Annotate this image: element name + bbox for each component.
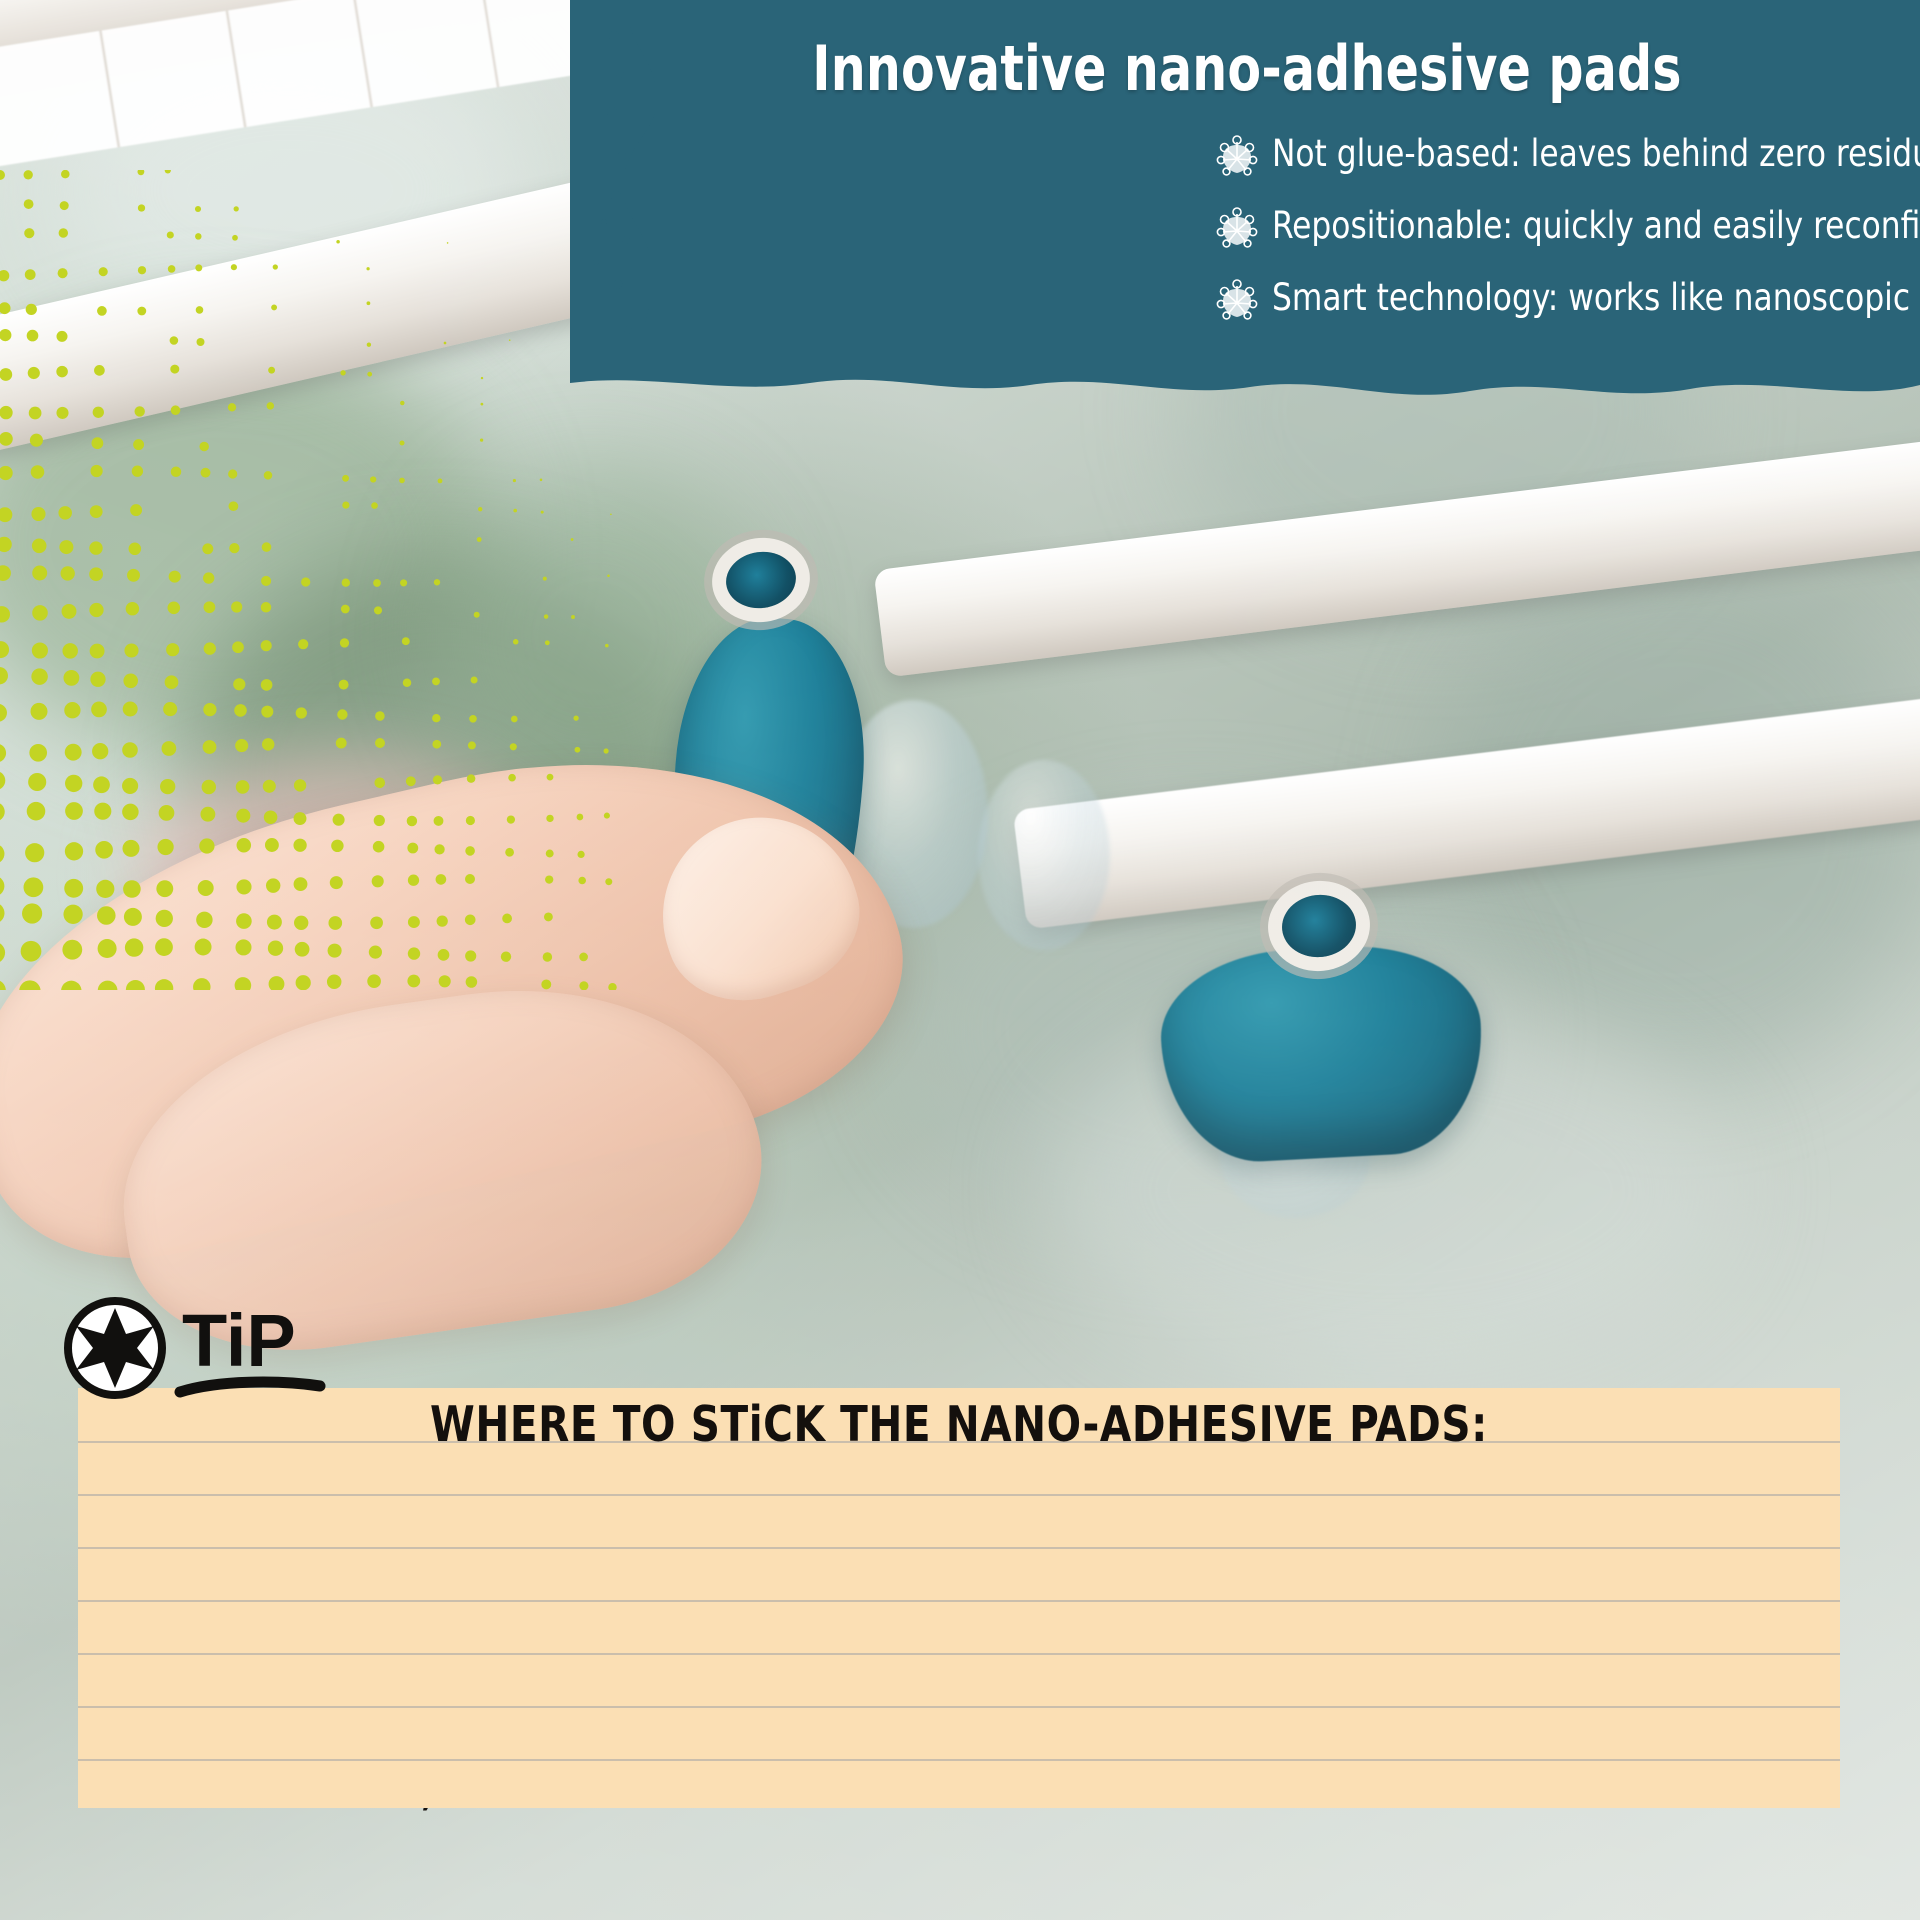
tip-underline [180, 1382, 320, 1392]
rule-line [78, 1759, 1840, 1761]
tip-title: WHERE TO STiCK THE NANO-ADHESIVE PADS: [148, 1396, 1769, 1453]
banner-bottom-edge [570, 369, 1920, 409]
rule-line [78, 1653, 1840, 1655]
nano-hand-icon [1216, 205, 1258, 249]
infographic-canvas: Innovative nano-adhesive pads Not glue-b… [0, 0, 1920, 1920]
tip-badge-label: TiP [182, 1299, 296, 1382]
tip-badge: TiP [58, 1296, 388, 1416]
feature-bullet-text: Repositionable: quickly and easily recon… [1272, 203, 1920, 249]
rule-line [78, 1706, 1840, 1708]
rule-line [78, 1600, 1840, 1602]
feature-bullet-list: Not glue-based: leaves behind zero resid… [1216, 131, 1920, 347]
page-title: Innovative nano-adhesive pads [693, 36, 1800, 101]
feature-bullet-item: Repositionable: quickly and easily recon… [1216, 203, 1920, 259]
nano-hand-icon [1216, 133, 1258, 177]
rule-line [78, 1494, 1840, 1496]
rule-line [78, 1547, 1840, 1549]
feature-bullet-text: Not glue-based: leaves behind zero resid… [1272, 131, 1920, 177]
feature-bullet-item: Not glue-based: leaves behind zero resid… [1216, 131, 1920, 187]
tip-panel: WHERE TO STiCK THE NANO-ADHESIVE PADS: [78, 1388, 1840, 1808]
tip-badge-graphic: TiP [58, 1296, 388, 1416]
header-banner: Innovative nano-adhesive pads Not glue-b… [570, 0, 1920, 375]
feature-bullet-item: Smart technology: works like nanoscopic … [1216, 275, 1920, 331]
feature-bullet-text: Smart technology: works like nanoscopic … [1272, 275, 1920, 321]
nano-hand-icon [1216, 277, 1258, 321]
